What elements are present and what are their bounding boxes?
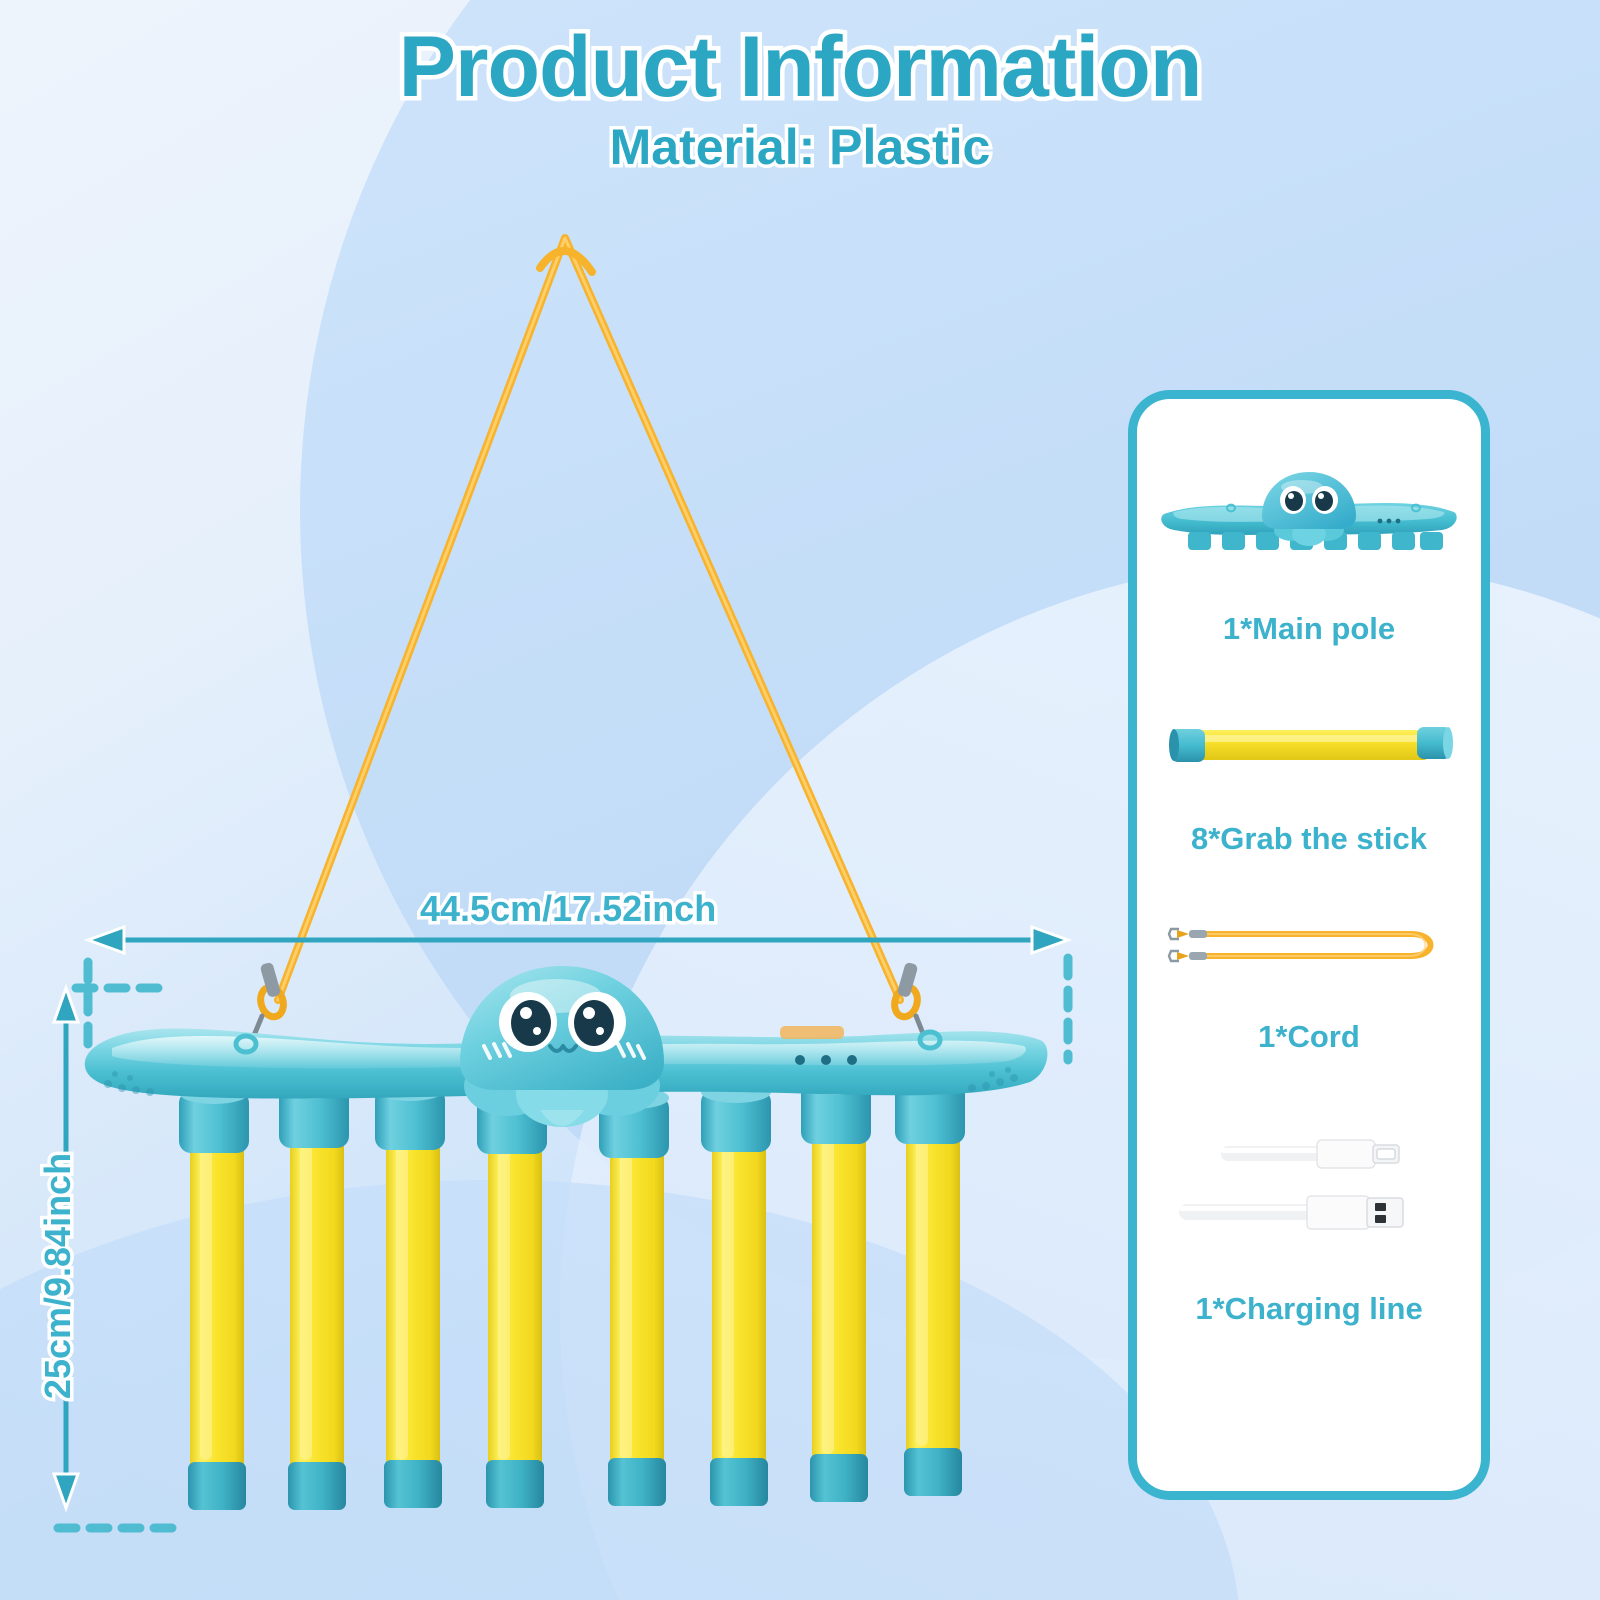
header: Product Information Material: Plastic xyxy=(0,24,1600,175)
octopus-pole-icon xyxy=(1137,441,1481,571)
page-title: Product Information xyxy=(0,24,1600,112)
stick xyxy=(375,1079,445,1508)
stick xyxy=(801,1073,871,1502)
stick xyxy=(279,1077,349,1510)
part-label-main-pole: 1*Main pole xyxy=(1223,611,1395,647)
part-label-cord: 1*Cord xyxy=(1258,1019,1360,1055)
product-illustration: 44.5cm/17.52inch 25cm/9.84inch xyxy=(0,0,1110,1600)
usb-cable-icon xyxy=(1137,1107,1481,1257)
usb-a-connector xyxy=(1179,1196,1403,1229)
part-label-charging-line: 1*Charging line xyxy=(1195,1291,1422,1327)
product-svg xyxy=(0,0,1110,1600)
part-item-grab-stick: 8*Grab the stick xyxy=(1137,647,1481,857)
orange-lanyard-icon xyxy=(1137,905,1481,985)
hanging-cord-icon xyxy=(278,238,900,1000)
octopus-head-icon xyxy=(460,966,664,1127)
stick xyxy=(179,1082,249,1510)
stick xyxy=(701,1081,771,1506)
stick xyxy=(895,1073,965,1496)
height-dimension-label: 25cm/9.84inch xyxy=(37,1126,79,1426)
product-info-page: Product Information Material: Plastic xyxy=(0,0,1600,1600)
width-dimension-label: 44.5cm/17.52inch xyxy=(420,888,716,930)
page-subtitle: Material: Plastic xyxy=(0,120,1600,175)
yellow-stick-icon xyxy=(1137,703,1481,783)
stick xyxy=(477,1083,547,1508)
parts-list-card: 1*Main pole xyxy=(1128,390,1490,1500)
usb-c-connector xyxy=(1221,1140,1399,1168)
stick xyxy=(599,1087,669,1506)
stick-group xyxy=(179,1073,965,1510)
part-label-grab-stick: 8*Grab the stick xyxy=(1191,821,1427,857)
part-item-cord: 1*Cord xyxy=(1137,857,1481,1055)
part-item-charging-line: 1*Charging line xyxy=(1137,1055,1481,1327)
part-item-main-pole: 1*Main pole xyxy=(1137,399,1481,647)
